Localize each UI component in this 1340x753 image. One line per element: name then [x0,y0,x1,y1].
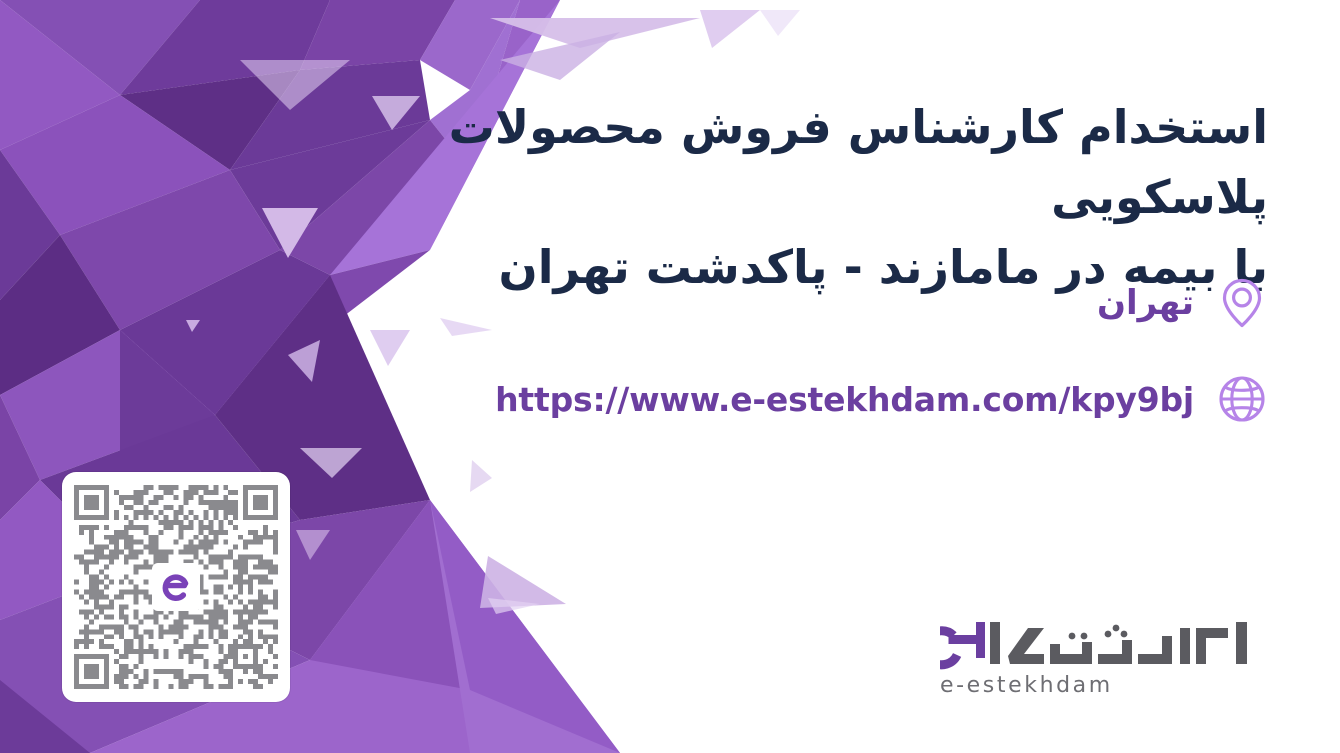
url-row[interactable]: https://www.e-estekhdam.com/kpy9bj [495,372,1268,426]
url-label[interactable]: https://www.e-estekhdam.com/kpy9bj [495,383,1194,416]
brand-logo: e-estekhdam [940,614,1270,698]
location-row: تهران [1097,276,1268,330]
job-promo-card: استخدام کارشناس فروش محصولات پلاسکویی با… [0,0,1340,753]
qr-center-logo-icon [152,563,200,611]
map-pin-icon [1216,276,1268,330]
globe-icon [1216,372,1268,426]
job-title: استخدام کارشناس فروش محصولات پلاسکویی با… [268,93,1268,303]
location-label: تهران [1097,286,1194,320]
brand-logotype-fa [940,614,1260,672]
brand-logotype-en: e-estekhdam [940,673,1113,698]
qr-code[interactable] [62,472,290,702]
